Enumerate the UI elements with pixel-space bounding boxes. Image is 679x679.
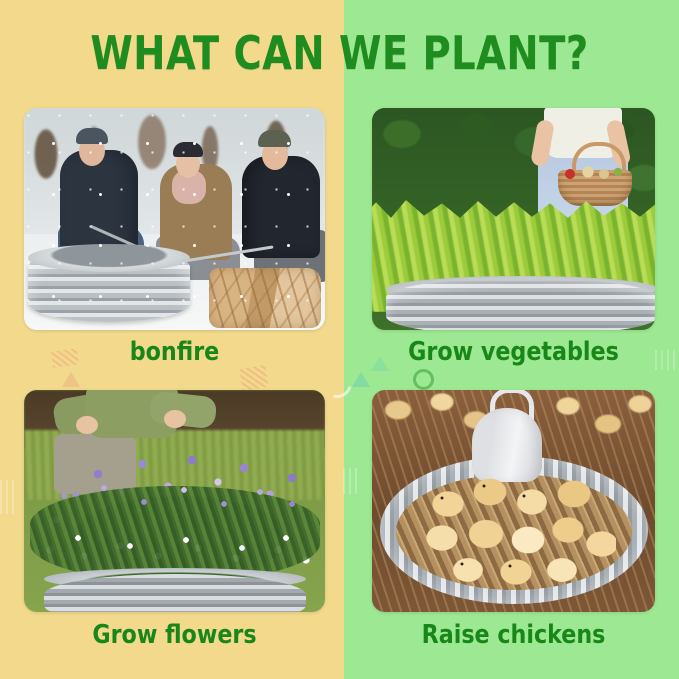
photo-vegetables — [372, 108, 655, 330]
flower-cluster-lower — [34, 476, 320, 580]
galvanized-planter — [44, 574, 306, 612]
gardener-hand-left — [76, 416, 98, 434]
panel-vegetables[interactable] — [372, 108, 655, 330]
page-title: WHAT CAN WE PLANT? — [24, 26, 655, 80]
caption-bonfire: bonfire — [32, 337, 318, 367]
poster-canvas: WHAT CAN WE PLANT? — [0, 0, 679, 679]
panel-chickens[interactable] — [372, 390, 655, 612]
photo-flowers — [24, 390, 325, 612]
chick-waterer — [472, 408, 542, 482]
photo-bonfire — [24, 108, 325, 330]
gardener-hand-right — [164, 410, 186, 428]
photo-chickens — [372, 390, 655, 612]
caption-flowers: Grow flowers — [32, 620, 318, 650]
harvested-vegetables — [560, 164, 630, 182]
chick-eyes — [416, 478, 616, 588]
caption-vegetables: Grow vegetables — [379, 337, 648, 367]
panel-flowers[interactable] — [24, 390, 325, 612]
falling-snow — [24, 108, 325, 330]
panel-bonfire[interactable] — [24, 108, 325, 330]
caption-chickens: Raise chickens — [379, 620, 648, 650]
galvanized-raised-bed — [386, 278, 655, 330]
